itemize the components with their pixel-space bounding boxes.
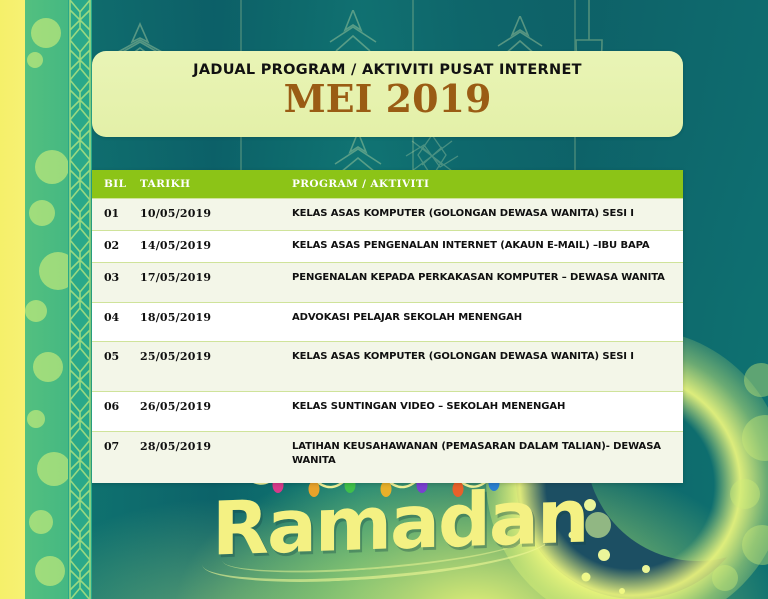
cell-program: KELAS ASAS KOMPUTER (GOLONGAN DEWASA WAN… [292,199,683,229]
cell-bil: 03 [92,263,140,302]
title-card: JADUAL PROGRAM / AKTIVITI PUSAT INTERNET… [92,51,683,137]
column-header-program: PROGRAM / AKTIVITI [292,178,683,190]
cell-program: KELAS ASAS KOMPUTER (GOLONGAN DEWASA WAN… [292,342,683,390]
cell-program: ADVOKASI PELAJAR SEKOLAH MENENGAH [292,303,683,341]
cell-bil: 07 [92,432,140,471]
table-row: 0317/05/2019PENGENALAN KEPADA PERKAKASAN… [92,262,683,302]
cell-tarikh: 14/05/2019 [140,231,292,262]
table-body: 0110/05/2019KELAS ASAS KOMPUTER (GOLONGA… [92,198,683,483]
table-row: 0626/05/2019KELAS SUNTINGAN VIDEO – SEKO… [92,391,683,431]
bokeh-circles-left [25,0,68,599]
cell-bil: 04 [92,303,140,342]
column-header-bil: BIL [92,178,140,190]
cell-bil: 02 [92,231,140,262]
cell-bil: 06 [92,392,140,431]
table-row: 0525/05/2019KELAS ASAS KOMPUTER (GOLONGA… [92,341,683,391]
cell-tarikh: 10/05/2019 [140,199,292,230]
ramadan-schedule-poster: Ramadan JADUAL PROGRAM / AKTIVITI PUSAT … [0,0,768,599]
page-title-month: MEI 2019 [284,80,492,119]
cell-program: KELAS SUNTINGAN VIDEO – SEKOLAH MENENGAH [292,392,683,430]
cell-bil: 01 [92,199,140,230]
table-header-row: BIL TARIKH PROGRAM / AKTIVITI [92,170,683,198]
schedule-table: BIL TARIKH PROGRAM / AKTIVITI 0110/05/20… [92,170,683,483]
cell-program: PENGENALAN KEPADA PERKAKASAN KOMPUTER – … [292,263,683,301]
cell-bil: 05 [92,342,140,391]
column-header-tarikh: TARIKH [140,178,292,190]
cell-tarikh: 18/05/2019 [140,303,292,342]
cell-tarikh: 26/05/2019 [140,392,292,431]
lantern-ornament-icon [324,10,382,54]
table-row: 0110/05/2019KELAS ASAS KOMPUTER (GOLONGA… [92,198,683,230]
cell-program: LATIHAN KEUSAHAWANAN (PEMASARAN DALAM TA… [292,432,683,483]
cell-program: KELAS ASAS PENGENALAN INTERNET (AKAUN E-… [292,231,683,261]
cell-tarikh: 25/05/2019 [140,342,292,391]
table-row: 0728/05/2019LATIHAN KEUSAHAWANAN (PEMASA… [92,431,683,483]
table-row: 0418/05/2019ADVOKASI PELAJAR SEKOLAH MEN… [92,302,683,342]
table-row: 0214/05/2019KELAS ASAS PENGENALAN INTERN… [92,230,683,262]
cell-tarikh: 17/05/2019 [140,263,292,302]
cell-tarikh: 28/05/2019 [140,432,292,471]
lattice-pattern-band [68,0,92,599]
